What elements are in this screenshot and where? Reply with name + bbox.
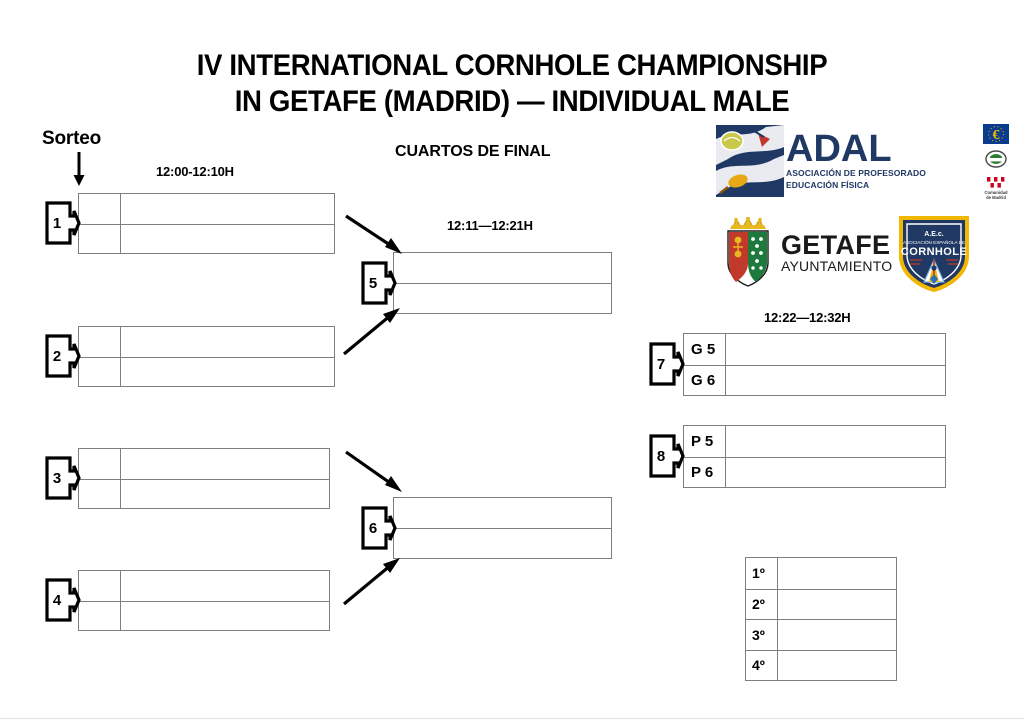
sorteo-label: Sorteo xyxy=(42,128,101,150)
round-2-time: 12:11—12:21H xyxy=(447,218,533,233)
match-8-row-2-value[interactable] xyxy=(726,458,945,488)
eu-flag-icon: € xyxy=(983,124,1009,144)
match-7-row-1-key: G 5 xyxy=(684,334,726,365)
cornhole-wordmark: CORNHOLE xyxy=(901,246,967,258)
match-7-row-2-value[interactable] xyxy=(726,366,945,396)
ranking-value-2[interactable] xyxy=(778,590,896,620)
final-ranking-table[interactable]: 1º 2º 3º 4º xyxy=(745,557,897,681)
round-3-time: 12:22—12:32H xyxy=(764,310,851,325)
match-table-5[interactable] xyxy=(393,252,612,314)
seed-tag-7[interactable]: 7 xyxy=(648,341,684,387)
cuartos-de-final-label: CUARTOS DE FINAL xyxy=(395,143,550,161)
page-title: IV INTERNATIONAL CORNHOLE CHAMPIONSHIP I… xyxy=(41,48,983,120)
table-row[interactable] xyxy=(79,357,334,387)
match-3-row-1-value[interactable] xyxy=(121,449,329,479)
adal-wordmark: ADAL xyxy=(786,132,926,166)
match-5-row-1-value[interactable] xyxy=(394,253,611,283)
bracket-page: IV INTERNATIONAL CORNHOLE CHAMPIONSHIP I… xyxy=(0,0,1024,724)
match-3-row-2-value[interactable] xyxy=(121,480,329,509)
table-row[interactable]: P 6 xyxy=(684,457,945,488)
adal-text-block: ADAL ASOCIACIÓN DE PROFESORADO EDUCACIÓN… xyxy=(786,132,926,190)
match-4-row-2-key xyxy=(79,602,121,631)
ranking-value-4[interactable] xyxy=(778,651,896,681)
match-2-row-2-key xyxy=(79,358,121,387)
match-3-row-2-key xyxy=(79,480,121,509)
match-7-row-1-value[interactable] xyxy=(726,334,945,365)
match-1-row-2-key xyxy=(79,225,121,254)
match-table-3[interactable] xyxy=(78,448,330,509)
seed-tag-8[interactable]: 8 xyxy=(648,433,684,479)
connector-arrow-4-to-6 xyxy=(340,550,404,608)
connector-arrow-2-to-5 xyxy=(340,300,404,358)
match-1-row-1-value[interactable] xyxy=(121,194,334,224)
ranking-row-4[interactable]: 4º xyxy=(746,650,896,681)
ranking-value-1[interactable] xyxy=(778,558,896,589)
round-1-time: 12:00-12:10H xyxy=(156,164,234,179)
table-row[interactable] xyxy=(79,327,334,357)
adal-subtitle-line-2: EDUCACIÓN FÍSICA xyxy=(786,180,926,190)
institutional-badges: € xyxy=(976,124,1016,200)
seed-tag-6[interactable]: 6 xyxy=(360,505,396,551)
getafe-logo: GETAFE AYUNTAMIENTO xyxy=(722,214,882,292)
svg-text:€: € xyxy=(993,128,1000,143)
seed-tag-2[interactable]: 2 xyxy=(44,333,80,379)
match-2-row-1-value[interactable] xyxy=(121,327,334,357)
match-2-row-1-key xyxy=(79,327,121,357)
getafe-coat-of-arms-icon xyxy=(722,217,774,289)
connector-arrow-3-to-6 xyxy=(344,450,408,502)
match-6-row-1-value[interactable] xyxy=(394,498,611,528)
table-row[interactable]: G 5 xyxy=(684,334,945,365)
match-5-row-2-value[interactable] xyxy=(394,284,611,313)
table-row[interactable] xyxy=(79,449,329,479)
adal-emblem-icon xyxy=(716,125,784,197)
table-row[interactable] xyxy=(79,224,334,254)
cornhole-mid-text: ASOCIACIÓN ESPAÑOLA DE xyxy=(903,239,965,245)
match-4-row-1-key xyxy=(79,571,121,601)
getafe-subtitle: AYUNTAMIENTO xyxy=(781,258,892,274)
getafe-text-block: GETAFE AYUNTAMIENTO xyxy=(781,232,892,274)
match-8-row-1-key: P 5 xyxy=(684,426,726,457)
seed-tag-3[interactable]: 3 xyxy=(44,455,80,501)
cornhole-top-text: A.E.c. xyxy=(924,231,944,238)
title-line-2: IN GETAFE (MADRID) — INDIVIDUAL MALE xyxy=(41,84,983,120)
match-4-row-1-value[interactable] xyxy=(121,571,329,601)
ranking-row-3[interactable]: 3º xyxy=(746,619,896,650)
table-row[interactable] xyxy=(79,479,329,509)
adal-subtitle-line-1: ASOCIACIÓN DE PROFESORADO xyxy=(786,168,926,178)
table-row[interactable] xyxy=(79,571,329,601)
match-1-row-1-key xyxy=(79,194,121,224)
match-table-7[interactable]: G 5 G 6 xyxy=(683,333,946,396)
page-bottom-edge xyxy=(0,718,1024,719)
match-4-row-2-value[interactable] xyxy=(121,602,329,631)
table-row[interactable] xyxy=(394,498,611,528)
match-table-4[interactable] xyxy=(78,570,330,631)
ranking-position-4: 4º xyxy=(746,651,778,681)
certification-seal-icon xyxy=(985,150,1007,168)
match-3-row-1-key xyxy=(79,449,121,479)
table-row[interactable] xyxy=(394,528,611,558)
connector-arrow-1-to-5 xyxy=(344,214,408,260)
table-row[interactable] xyxy=(79,601,329,631)
sponsor-logos: ADAL ASOCIACIÓN DE PROFESORADO EDUCACIÓN… xyxy=(716,122,1016,312)
table-row[interactable]: P 5 xyxy=(684,426,945,457)
ranking-position-2: 2º xyxy=(746,590,778,620)
match-table-2[interactable] xyxy=(78,326,335,387)
match-table-1[interactable] xyxy=(78,193,335,254)
ranking-position-1: 1º xyxy=(746,558,778,589)
table-row[interactable]: G 6 xyxy=(684,365,945,396)
match-8-row-1-value[interactable] xyxy=(726,426,945,457)
match-table-8[interactable]: P 5 P 6 xyxy=(683,425,946,488)
match-6-row-2-value[interactable] xyxy=(394,529,611,558)
cornhole-association-logo: A.E.c. ASOCIACIÓN ESPAÑOLA DE CORNHOLE xyxy=(891,210,977,296)
sorteo-down-arrow-icon xyxy=(72,152,86,186)
table-row[interactable] xyxy=(394,283,611,313)
table-row[interactable] xyxy=(394,253,611,283)
ranking-position-3: 3º xyxy=(746,620,778,650)
ranking-value-3[interactable] xyxy=(778,620,896,650)
match-table-6[interactable] xyxy=(393,497,612,559)
title-line-1: IV INTERNATIONAL CORNHOLE CHAMPIONSHIP xyxy=(197,49,828,82)
madrid-caption-2: de Madrid xyxy=(986,195,1006,200)
match-7-row-2-key: G 6 xyxy=(684,366,726,396)
match-8-row-2-key: P 6 xyxy=(684,458,726,488)
getafe-wordmark: GETAFE xyxy=(781,232,892,258)
table-row[interactable] xyxy=(79,194,334,224)
seed-tag-4[interactable]: 4 xyxy=(44,577,80,623)
comunidad-de-madrid-icon: Comunidad de Madrid xyxy=(981,174,1011,200)
ranking-row-2[interactable]: 2º xyxy=(746,589,896,620)
adal-logo: ADAL ASOCIACIÓN DE PROFESORADO EDUCACIÓN… xyxy=(716,122,1016,200)
ranking-row-1[interactable]: 1º xyxy=(746,558,896,589)
match-1-row-2-value[interactable] xyxy=(121,225,334,254)
seed-tag-1[interactable]: 1 xyxy=(44,200,80,246)
match-2-row-2-value[interactable] xyxy=(121,358,334,387)
